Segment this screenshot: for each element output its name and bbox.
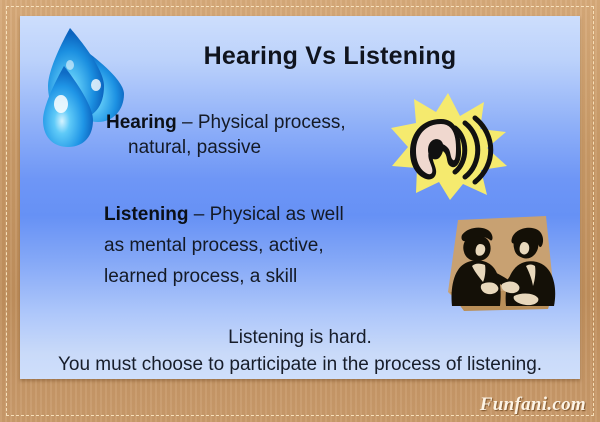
bullet-hearing-term: Hearing (106, 112, 177, 133)
slide-canvas: Hearing Vs Listening Hearing – Physical … (20, 16, 580, 379)
slide-title: Hearing Vs Listening (20, 42, 580, 71)
closing-line-1: Listening is hard. (20, 324, 580, 351)
bullet-hearing-line2: natural, passive (106, 135, 396, 160)
two-people-conversation-graphic (428, 208, 573, 316)
bullet-listening-line2: as mental process, active, (104, 230, 404, 261)
bullet-listening-term: Listening (104, 204, 188, 225)
closing-line-2: You must choose to participate in the pr… (20, 351, 580, 378)
wooden-picture-frame: Hearing Vs Listening Hearing – Physical … (0, 0, 600, 422)
bullet-hearing-line1: Physical process, (198, 112, 346, 133)
bullet-listening-dash: – (188, 204, 209, 225)
closing-statement: Listening is hard. You must choose to pa… (20, 324, 580, 378)
bullet-listening-line1: Physical as well (210, 204, 344, 225)
ear-with-sound-waves-starburst-graphic (388, 90, 510, 202)
bullet-listening: Listening – Physical as well as mental p… (104, 199, 404, 292)
bullet-listening-line3: learned process, a skill (104, 261, 404, 292)
bullet-hearing: Hearing – Physical process, natural, pas… (106, 110, 396, 160)
bullet-hearing-dash: – (177, 112, 198, 133)
watermark: Funfani.com (480, 394, 586, 416)
